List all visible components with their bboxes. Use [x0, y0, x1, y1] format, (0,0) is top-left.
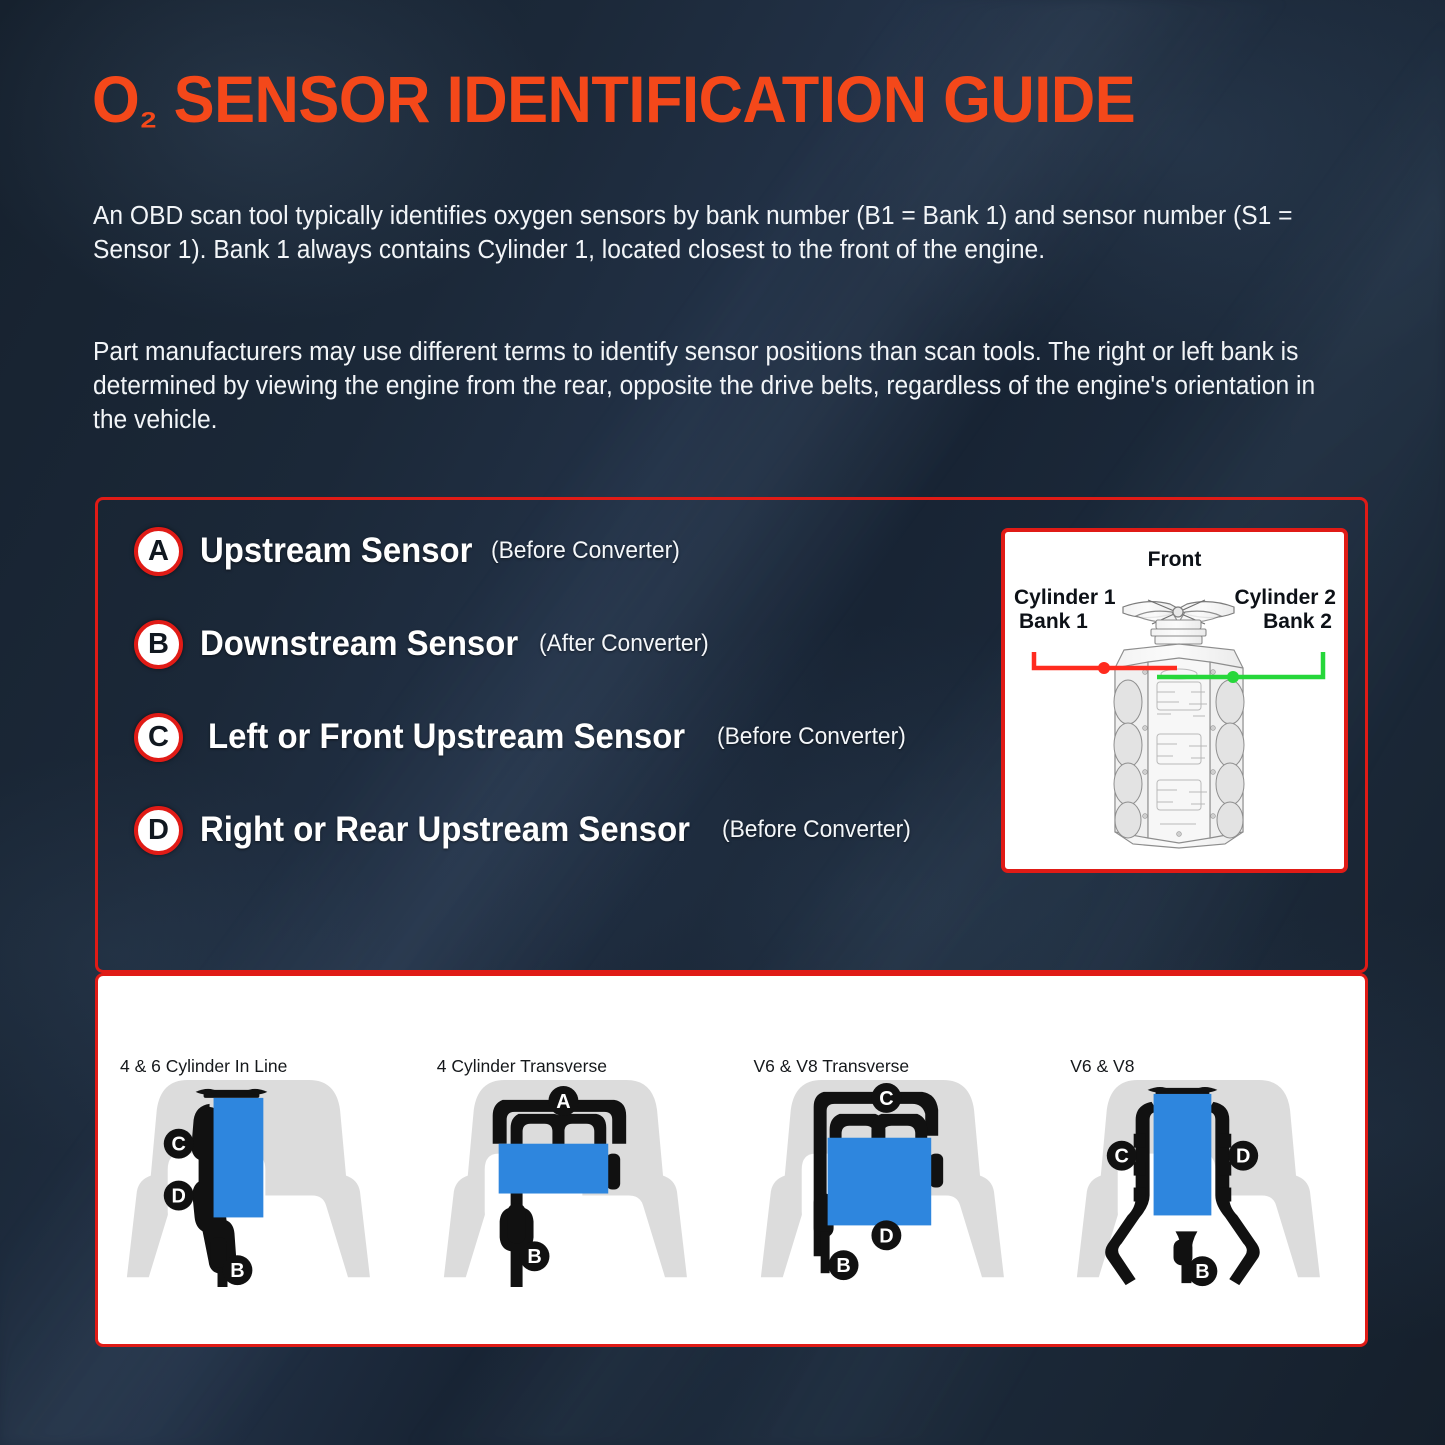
legend-label-a: Upstream Sensor	[200, 531, 472, 571]
legend-badge-a: A	[134, 527, 183, 576]
svg-text:C: C	[1115, 1146, 1129, 1168]
intro-paragraph-2: Part manufacturers may use different ter…	[93, 336, 1323, 438]
engine-block-illustration	[1005, 532, 1348, 873]
legend-badge-b: B	[134, 620, 183, 669]
vehicle-layout-panel: 4 & 6 Cylinder In Line C	[95, 973, 1368, 1347]
diagram-cell-4cyl-transverse: 4 Cylinder Transverse	[415, 976, 732, 1344]
transverse-4cyl-illustration: A B	[415, 1072, 732, 1287]
page-title-rest: SENSOR IDENTIFICATION GUIDE	[174, 62, 1136, 136]
diagram-cell-inline: 4 & 6 Cylinder In Line C	[98, 976, 415, 1344]
legend-label-b: Downstream Sensor	[200, 624, 518, 664]
legend-item-c: C Left or Front Upstream Sensor (Before …	[134, 710, 921, 764]
legend-label-c: Left or Front Upstream Sensor	[208, 717, 685, 757]
legend-note-b: (After Converter)	[539, 630, 709, 658]
legend-item-d: D Right or Rear Upstream Sensor (Before …	[134, 803, 921, 857]
legend-badge-d: D	[134, 806, 183, 855]
legend-item-a: A Upstream Sensor (Before Converter)	[134, 524, 921, 578]
svg-text:B: B	[230, 1260, 244, 1282]
diagram-cell-v-transverse: V6 & V8 Transverse rear ofengine	[732, 976, 1049, 1344]
page-title-o: O	[92, 62, 139, 136]
v-longitudinal-illustration: C D B	[1048, 1072, 1365, 1287]
svg-text:B: B	[527, 1246, 541, 1268]
legend-note-d: (Before Converter)	[722, 816, 911, 844]
v-transverse-illustration: C D B	[732, 1072, 1049, 1287]
svg-text:C: C	[171, 1134, 185, 1156]
legend-note-a: (Before Converter)	[491, 537, 680, 565]
svg-text:D: D	[171, 1185, 185, 1207]
legend-badge-c: C	[134, 713, 183, 762]
intro-paragraph-1: An OBD scan tool typically identifies ox…	[93, 200, 1323, 268]
legend-label-d: Right or Rear Upstream Sensor	[200, 810, 690, 850]
legend-note-c: (Before Converter)	[717, 723, 906, 751]
sensor-legend-list: A Upstream Sensor (Before Converter) B D…	[134, 524, 921, 857]
legend-item-b: B Downstream Sensor (After Converter)	[134, 617, 921, 671]
svg-text:D: D	[1236, 1146, 1250, 1168]
svg-text:A: A	[556, 1091, 570, 1113]
page-title-subscript: ₂	[139, 87, 157, 136]
svg-text:B: B	[836, 1255, 850, 1277]
svg-text:C: C	[879, 1088, 893, 1110]
engine-bank-diagram: Front Cylinder 1 Bank 1 Cylinder 2 Bank …	[1001, 528, 1348, 873]
inline-engine-illustration: C D B	[98, 1072, 415, 1287]
svg-text:B: B	[1195, 1261, 1209, 1283]
svg-text:D: D	[879, 1225, 893, 1247]
diagram-cell-v-longitudinal: V6 & V8	[1048, 976, 1365, 1344]
page-title: O₂ SENSOR IDENTIFICATION GUIDE	[92, 66, 1135, 132]
